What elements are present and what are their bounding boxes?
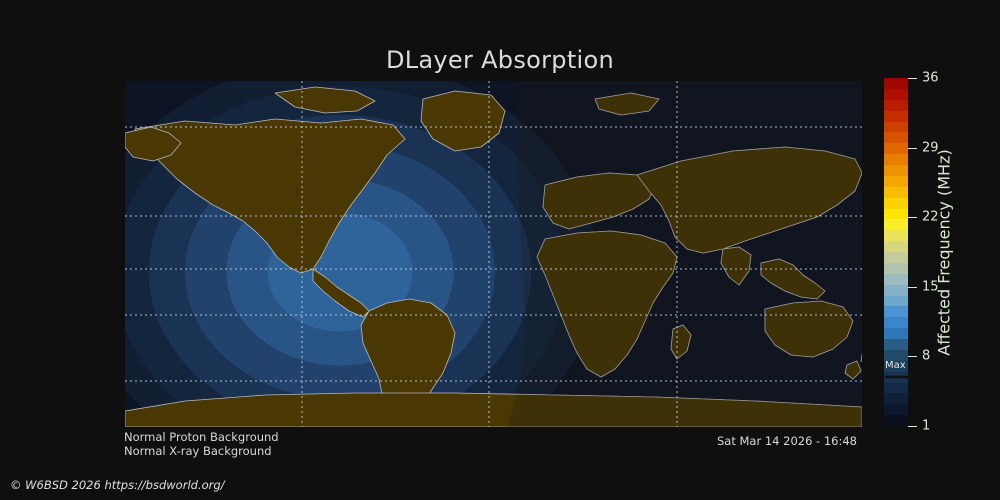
colorbar-tick [908,148,917,149]
xray-background-status: Normal X-ray Background [124,444,272,458]
colorbar-cell [884,198,908,209]
timestamp: Sat Mar 14 2026 - 16:48 [717,434,857,448]
colorbar-tick [908,426,917,427]
colorbar-cell [884,165,908,176]
colorbar-cell [884,306,908,317]
colorbar-tick [908,217,917,218]
colorbar-cell [884,154,908,165]
colorbar-cell [884,339,908,350]
colorbar-cell [884,143,908,154]
colorbar-cell [884,78,908,89]
colorbar-tick-label: 1 [922,419,930,434]
colorbar-axis-label: Affected Frequency (MHz) [934,78,954,426]
colorbar[interactable] [884,78,908,426]
page-title: DLayer Absorption [0,46,1000,74]
map-canvas [125,81,862,427]
colorbar-cell [884,187,908,198]
colorbar-cell [884,122,908,133]
colorbar-cell [884,415,908,426]
colorbar-cell [884,241,908,252]
colorbar-cell [884,230,908,241]
colorbar-gradient [884,78,908,426]
colorbar-cell [884,383,908,394]
colorbar-cell [884,132,908,143]
colorbar-cell [884,393,908,404]
proton-background-status: Normal Proton Background [124,430,279,444]
colorbar-cell [884,274,908,285]
colorbar-tick [908,78,917,79]
colorbar-cell [884,89,908,100]
copyright-notice: © W6BSD 2026 https://bsdworld.org/ [10,478,225,492]
colorbar-cell [884,111,908,122]
colorbar-tick [908,287,917,288]
colorbar-cell [884,176,908,187]
colorbar-cell [884,361,908,372]
colorbar-cell [884,328,908,339]
colorbar-cell [884,252,908,263]
colorbar-cell [884,317,908,328]
colorbar-cell [884,263,908,274]
colorbar-cell [884,350,908,361]
colorbar-cell [884,404,908,415]
colorbar-cell [884,372,908,383]
colorbar-cell [884,100,908,111]
colorbar-tick-label: 8 [922,349,930,364]
dlayer-absorption-app: DLayer Absorption [0,0,1000,500]
colorbar-tick [908,356,917,357]
colorbar-axis-label-text: Affected Frequency (MHz) [935,149,954,355]
colorbar-cell [884,296,908,307]
colorbar-cell [884,209,908,220]
colorbar-cell [884,219,908,230]
colorbar-cell [884,285,908,296]
world-map[interactable] [125,81,862,427]
